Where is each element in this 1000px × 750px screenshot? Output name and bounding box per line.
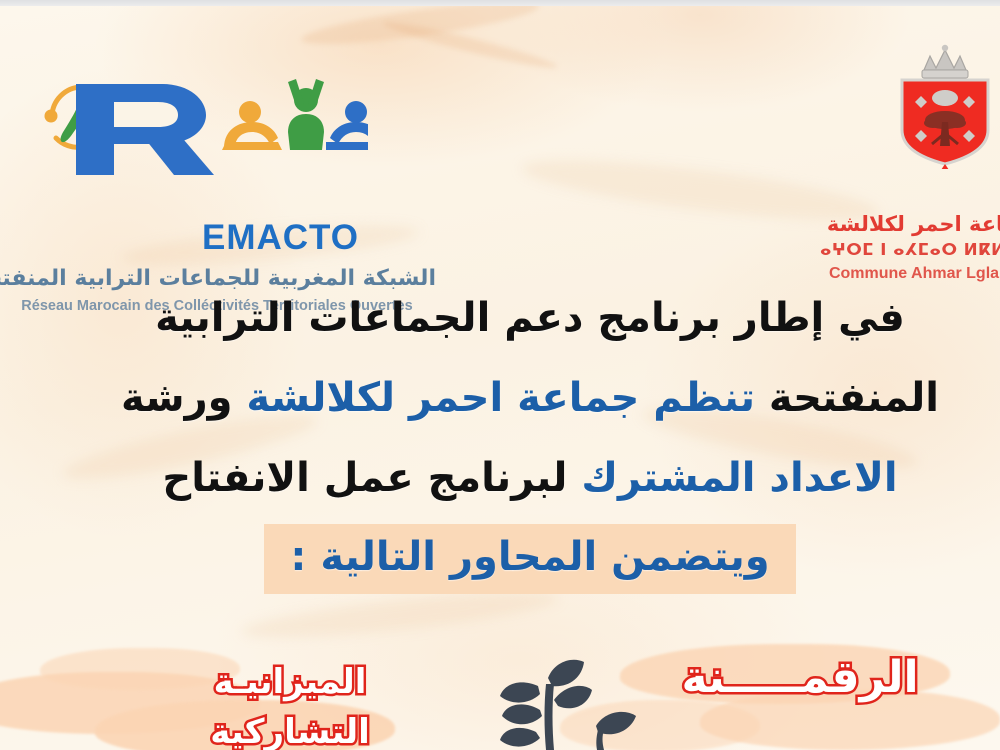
axis-budget-line-1: الميزانيـة: [120, 662, 460, 702]
headline-line2-part-c: ورشة: [121, 375, 232, 421]
headline-line-1: في إطار برنامج دعم الجماعات الترابية: [90, 278, 970, 358]
axis-budget-line-2: التشاركية: [120, 712, 460, 750]
headline-line-2: المنفتحة تنظم جماعة احمر لكلالشة ورشة: [90, 358, 970, 438]
headline-line1-text: في إطار برنامج دعم الجماعات الترابية: [155, 295, 905, 341]
remacto-wordmark: EMACTO: [202, 218, 422, 258]
headline-line-4: ويتضمن المحاور التالية :: [290, 526, 769, 588]
headline-line-3: الاعداد المشترك لبرنامج عمل الانفتاح: [90, 438, 970, 518]
remacto-logo: EMACTO الشبكة المغربية للجماعات الترابية…: [18, 70, 418, 255]
viewport-top-strip: [0, 0, 1000, 6]
letter-r-icon: [76, 84, 214, 175]
commune-coat-of-arms: [880, 44, 1000, 169]
headline-highlight-band: ويتضمن المحاور التالية :: [264, 524, 795, 594]
commune-logo: جماعة احمر لكلالشة ⴰⵖⵔⵎ ⵏ ⴰⵃⵎⴰⵔ ⵍⴽⵍⴰⵍⵛⴰ …: [880, 44, 1000, 254]
crown-icon: [922, 45, 968, 78]
three-people-icon: [222, 79, 368, 150]
axis-digitalization: الرقمـــــنة: [600, 652, 1000, 703]
headline-line3-part-b: لبرنامج عمل الانفتاح: [162, 455, 567, 501]
remacto-logo-mark: [38, 70, 368, 175]
headline-line2-part-a: المنفتحة: [769, 375, 939, 421]
marble-vein: [299, 0, 540, 53]
commune-tifinagh-name: ⴰⵖⵔⵎ ⵏ ⴰⵃⵎⴰⵔ ⵍⴽⵍⴰⵍⵛⴰ: [820, 240, 1000, 259]
headline-line2-part-b: تنظم جماعة احمر لكلالشة: [246, 375, 755, 421]
poster-canvas: EMACTO الشبكة المغربية للجماعات الترابية…: [0, 0, 1000, 750]
headline-line3-part-a: الاعداد المشترك: [581, 455, 897, 501]
marble-vein: [381, 16, 559, 73]
headline-block: في إطار برنامج دعم الجماعات الترابية الم…: [90, 278, 970, 594]
commune-arabic-name: جماعة احمر لكلالشة: [820, 212, 1000, 236]
